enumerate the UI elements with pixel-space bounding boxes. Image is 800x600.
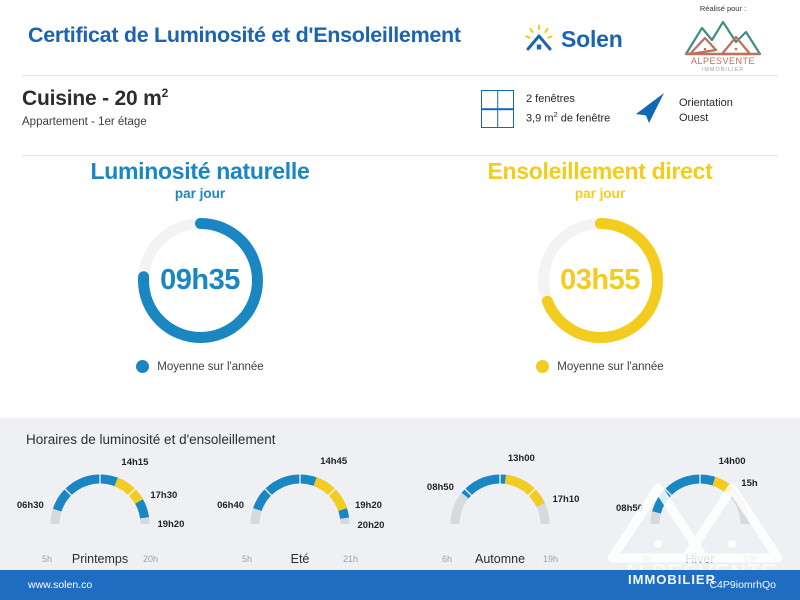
footer-website-link[interactable]: www.solen.co <box>28 579 92 591</box>
donut-chart-luminosite: 09h35 <box>132 212 269 349</box>
gauge-scale-start: 6h <box>442 554 452 564</box>
gauge-hiver: 08h5014h0015hHiver8h18h <box>600 458 800 570</box>
gauge-eté: 06h4014h4519h2020h20Eté5h21h <box>200 458 400 570</box>
donut-title-ensoleillement: Ensoleillement direct <box>400 158 800 185</box>
gauge-arc <box>243 462 357 532</box>
gauge-time-label: 14h00 <box>719 456 746 467</box>
brand-name: Solen <box>561 26 623 53</box>
sun-house-icon <box>524 24 554 54</box>
gauge-scale-end: 19h <box>543 554 558 564</box>
gauge-season-label: Automne <box>400 552 600 566</box>
room-subtitle: Appartement - 1er étage <box>22 116 168 128</box>
gauge-time-label: 14h45 <box>320 456 347 467</box>
gauge-time-label: 06h40 <box>217 500 244 511</box>
gauge-printemps: 06h3014h1517h3019h20Printemps5h20h <box>0 458 200 570</box>
gauge-time-label: 08h50 <box>427 482 454 493</box>
gauge-arc <box>43 462 157 532</box>
legend-dot-icon <box>136 360 149 373</box>
legend-dot-icon <box>536 360 549 373</box>
footer-code-text: C4P9iomrhQo <box>709 579 776 591</box>
donut-card-luminosite: Luminosité naturelle par jour 09h35 Moye… <box>0 158 400 373</box>
orientation-value: Ouest <box>679 112 708 124</box>
realise-pour-label: Réalisé pour : <box>660 4 786 13</box>
gauge-time-label: 14h15 <box>121 457 148 468</box>
page-title: Certificat de Luminosité et d'Ensoleille… <box>28 23 461 48</box>
season-gauges-row: 06h3014h1517h3019h20Printemps5h20h06h401… <box>0 458 800 570</box>
gauge-time-label: 13h00 <box>508 453 535 464</box>
header-divider <box>22 75 778 76</box>
mountains-icon: ALPESVENTE IMMOBILIER <box>660 14 786 72</box>
gauge-arc <box>443 462 557 532</box>
gauge-time-label: 19h20 <box>157 519 184 530</box>
gauge-scale-end: 20h <box>143 554 158 564</box>
legend-label-ensoleillement: Moyenne sur l'année <box>557 361 663 373</box>
window-grid-icon <box>481 90 514 128</box>
gauge-time-label: 17h30 <box>150 490 177 501</box>
page-header: Certificat de Luminosité et d'Ensoleille… <box>0 0 800 76</box>
windows-area-post: de fenêtre <box>558 112 611 124</box>
gauge-season-label: Printemps <box>0 552 200 566</box>
watermark-footer-text: IMMOBILIER <box>628 572 716 587</box>
donut-subtitle-luminosite: par jour <box>0 186 400 201</box>
room-title-exponent: 2 <box>162 86 168 100</box>
gauge-season-label: Eté <box>200 552 400 566</box>
gauge-svg <box>643 462 757 536</box>
gauge-scale-start: 8h <box>642 554 652 564</box>
gauge-automne: 08h5013h0017h10Automne6h19h <box>400 458 600 570</box>
windows-area-pre: 3,9 m <box>526 112 554 124</box>
donut-title-luminosite: Luminosité naturelle <box>0 158 400 185</box>
gauge-time-label: 20h20 <box>358 520 385 531</box>
gauge-scale-end: 21h <box>343 554 358 564</box>
donut-subtitle-ensoleillement: par jour <box>400 186 800 201</box>
donut-chart-ensoleillement: 03h55 <box>532 212 669 349</box>
donut-value-ensoleillement: 03h55 <box>532 212 669 349</box>
gauge-time-label: 15h <box>741 478 757 489</box>
gauge-scale-start: 5h <box>42 554 52 564</box>
legend-label-luminosite: Moyenne sur l'année <box>157 361 263 373</box>
donut-legend-ensoleillement: Moyenne sur l'année <box>400 360 800 373</box>
room-title-text: Cuisine - 20 m <box>22 87 162 110</box>
donut-legend-luminosite: Moyenne sur l'année <box>0 360 400 373</box>
gauge-time-label: 17h10 <box>552 494 579 505</box>
schedule-panel: Horaires de luminosité et d'ensoleilleme… <box>0 418 800 570</box>
windows-text: 2 fenêtres 3,9 m2 de fenêtre <box>526 92 610 127</box>
gauge-season-label: Hiver <box>600 552 800 566</box>
gauge-arc <box>643 462 757 532</box>
windows-info: 2 fenêtres 3,9 m2 de fenêtre <box>481 90 610 128</box>
room-info-block: Cuisine - 20 m2 Appartement - 1er étage <box>22 86 168 128</box>
orientation-text: Orientation Ouest <box>679 96 733 126</box>
client-subtitle: IMMOBILIER <box>660 67 786 73</box>
donut-card-ensoleillement: Ensoleillement direct par jour 03h55 Moy… <box>400 158 800 373</box>
daily-averages-section: Luminosité naturelle par jour 09h35 Moye… <box>0 158 800 414</box>
windows-count: 2 fenêtres <box>526 93 575 105</box>
orientation-label: Orientation <box>679 97 733 109</box>
gauge-scale-start: 5h <box>242 554 252 564</box>
gauge-time-label: 08h50 <box>616 503 643 514</box>
gauge-svg <box>243 462 357 536</box>
gauge-scale-end: 18h <box>743 554 758 564</box>
gauge-time-label: 06h30 <box>17 500 44 511</box>
client-credit-block: Réalisé pour : ALPESVENTE IMMOBILIER <box>660 4 786 72</box>
section-divider <box>22 155 778 156</box>
orientation-info: Orientation Ouest <box>628 90 733 131</box>
donut-value-luminosite: 09h35 <box>132 212 269 349</box>
gauge-svg <box>43 462 157 536</box>
gauge-time-label: 19h20 <box>355 500 382 511</box>
gauge-svg <box>443 462 557 536</box>
schedule-title: Horaires de luminosité et d'ensoleilleme… <box>26 432 275 447</box>
compass-arrow-icon <box>628 90 668 131</box>
solen-brand-logo: Solen <box>524 24 623 54</box>
certificate-page: Certificat de Luminosité et d'Ensoleille… <box>0 0 800 600</box>
room-title: Cuisine - 20 m2 <box>22 86 168 111</box>
